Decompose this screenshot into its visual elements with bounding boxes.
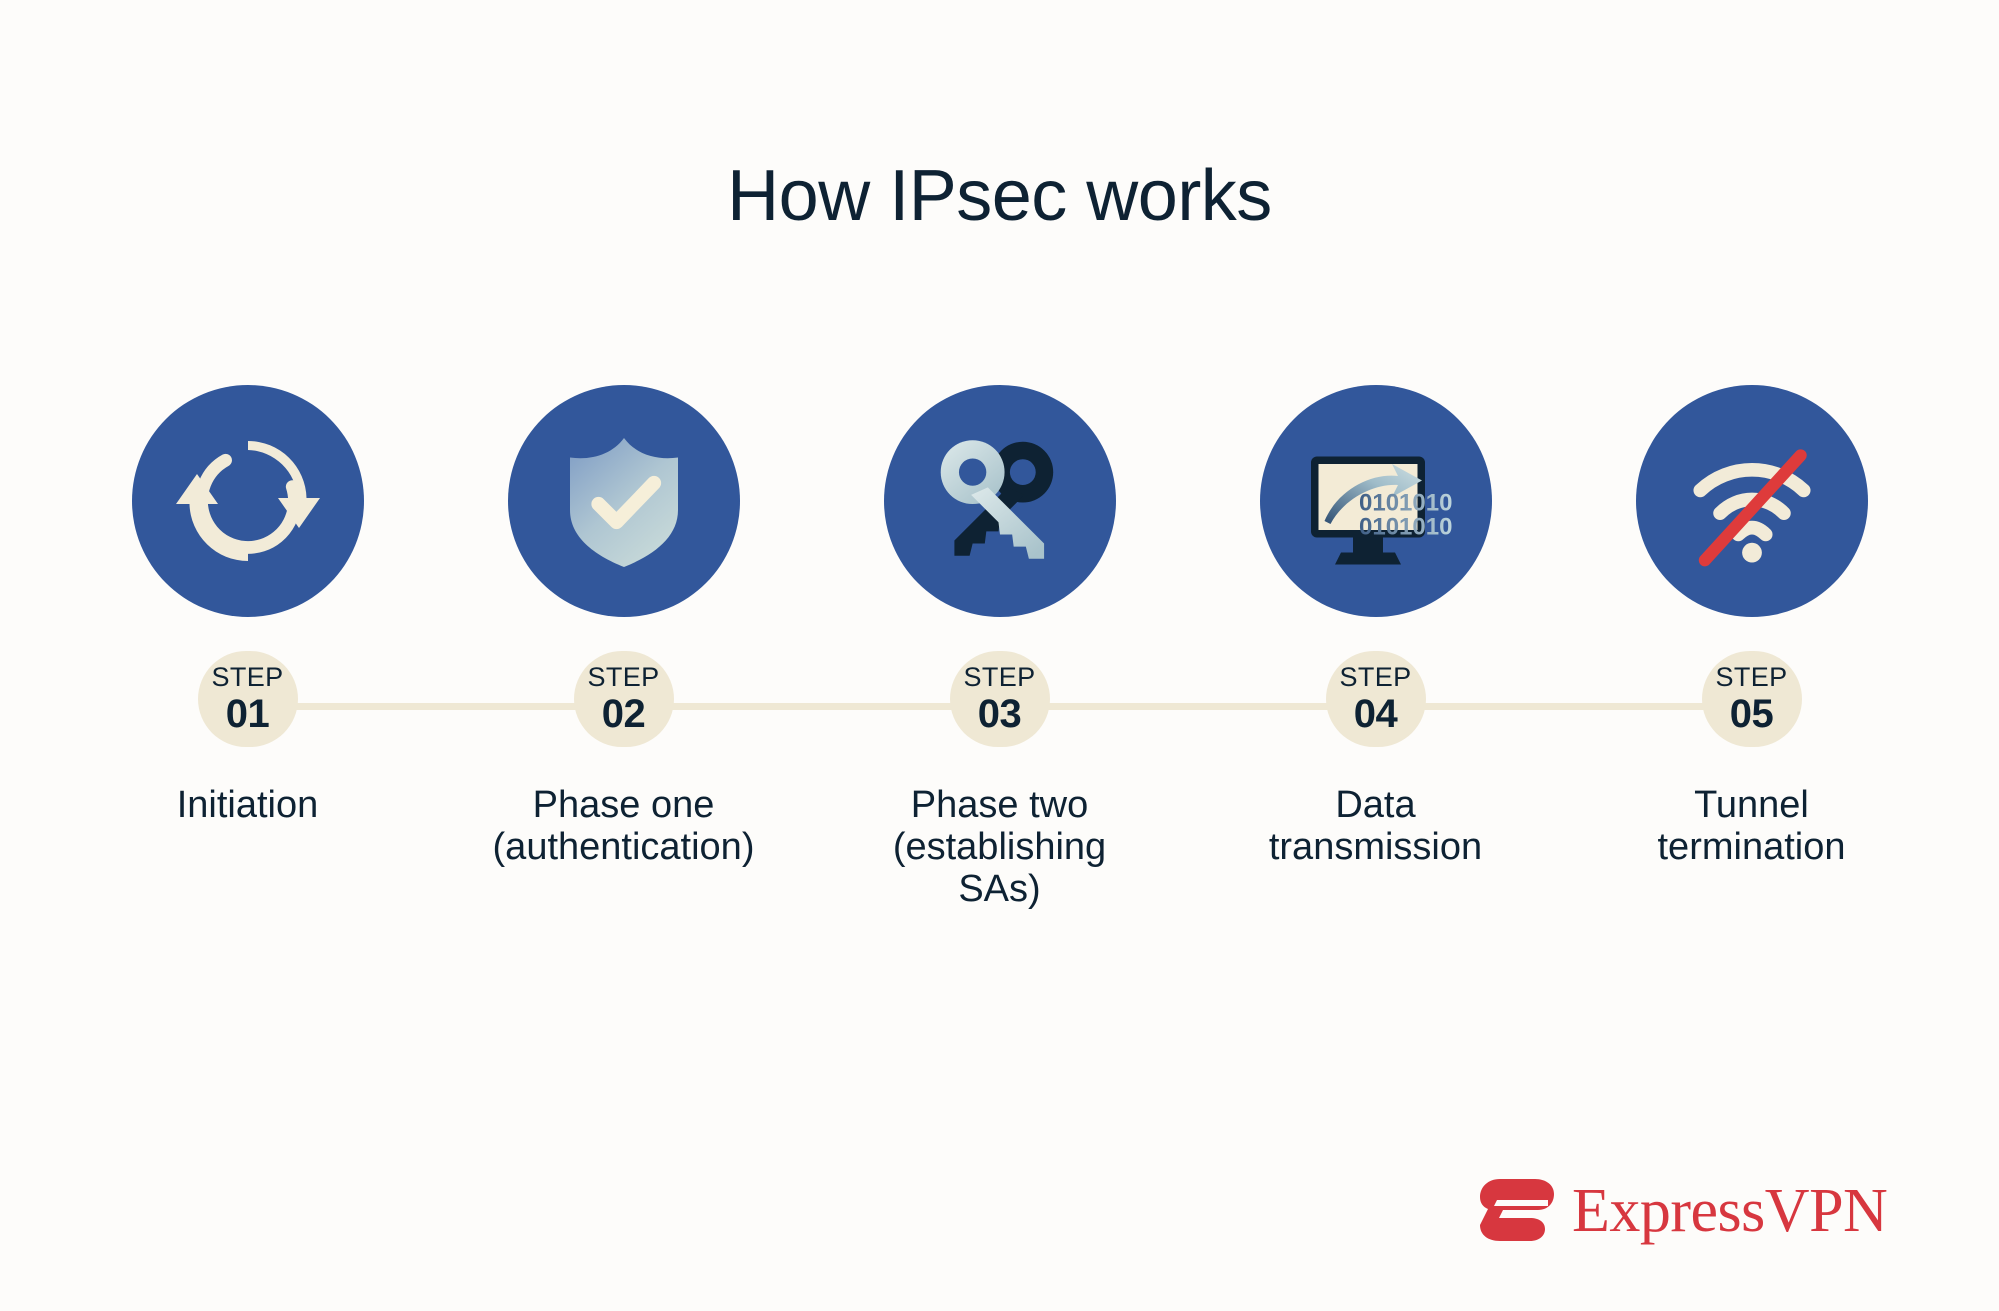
wifi-off-icon: [1676, 425, 1828, 577]
step-item-04: 0101010 0101010 STEP 04 Data transmissio…: [1188, 385, 1563, 869]
expressvpn-wordmark: ExpressVPN: [1572, 1180, 1887, 1242]
step-icon-circle-03: [884, 385, 1116, 617]
step-item-03: STEP 03 Phase two (establishing SAs): [812, 385, 1187, 910]
step-badge-05: STEP 05: [1702, 651, 1802, 747]
step-badge-number-02: 02: [602, 694, 646, 734]
step-item-01: STEP 01 Initiation: [60, 385, 435, 827]
svg-text:0101010: 0101010: [1359, 489, 1452, 516]
step-label-01: Initiation: [177, 785, 319, 827]
step-badge-number-05: 05: [1730, 694, 1774, 734]
expressvpn-e-mark-icon: [1478, 1173, 1556, 1248]
step-icon-circle-02: [508, 385, 740, 617]
step-label-04: Data transmission: [1269, 785, 1482, 869]
svg-text:0101010: 0101010: [1359, 513, 1452, 540]
step-badge-number-03: 03: [978, 694, 1022, 734]
step-badge-number-04: 04: [1354, 694, 1398, 734]
step-label-02: Phase one (authentication): [493, 785, 755, 869]
two-keys-icon: [924, 425, 1076, 577]
step-badge-number-01: 01: [226, 694, 270, 734]
step-icon-circle-04: 0101010 0101010: [1260, 385, 1492, 617]
step-icon-circle-05: [1636, 385, 1868, 617]
step-badge-word-05: STEP: [1715, 664, 1787, 691]
refresh-sync-icon: [173, 426, 323, 576]
step-label-05: Tunnel termination: [1658, 785, 1846, 869]
step-badge-word-01: STEP: [211, 664, 283, 691]
step-badge-02: STEP 02: [574, 651, 674, 747]
steps-container: STEP 01 Initiation: [60, 385, 1939, 985]
monitor-data-transfer-icon: 0101010 0101010: [1293, 419, 1458, 584]
expressvpn-logo: ExpressVPN: [1478, 1173, 1887, 1248]
step-badge-03: STEP 03: [950, 651, 1050, 747]
step-icon-circle-01: [132, 385, 364, 617]
shield-check-icon: [549, 426, 699, 576]
page-title: How IPsec works: [0, 160, 1999, 232]
step-item-02: STEP 02 Phase one (authentication): [436, 385, 811, 869]
step-badge-word-03: STEP: [963, 664, 1035, 691]
step-item-05: STEP 05 Tunnel termination: [1564, 385, 1939, 869]
step-badge-word-04: STEP: [1339, 664, 1411, 691]
step-badge-word-02: STEP: [587, 664, 659, 691]
step-badge-04: STEP 04: [1326, 651, 1426, 747]
step-label-03: Phase two (establishing SAs): [893, 785, 1106, 910]
step-badge-01: STEP 01: [198, 651, 298, 747]
